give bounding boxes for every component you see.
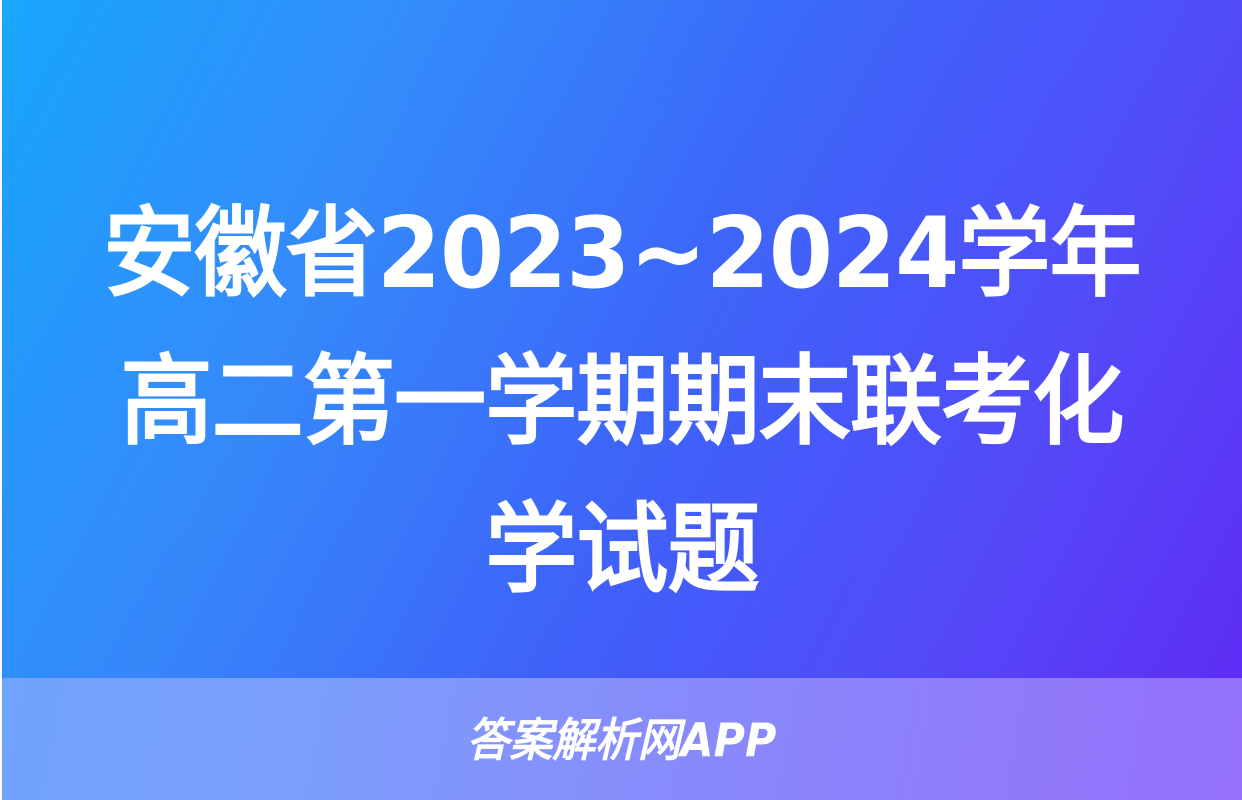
exam-cover-panel: 安徽省2023~2024学年 高二第一学期期末联考化 学试题 bbox=[2, 0, 1242, 678]
screenshot-root: 安徽省2023~2024学年 高二第一学期期末联考化 学试题 答案解析网APP bbox=[0, 0, 1242, 800]
app-watermark-bar: 答案解析网APP bbox=[2, 678, 1242, 800]
exam-title-line-3: 学试题 bbox=[94, 476, 1151, 624]
exam-title-block: 安徽省2023~2024学年 高二第一学期期末联考化 学试题 bbox=[2, 180, 1242, 624]
exam-title-line-2: 高二第一学期期末联考化 bbox=[94, 328, 1151, 476]
app-brand-label: 答案解析网APP bbox=[467, 717, 777, 763]
exam-title-line-1: 安徽省2023~2024学年 bbox=[94, 180, 1151, 328]
